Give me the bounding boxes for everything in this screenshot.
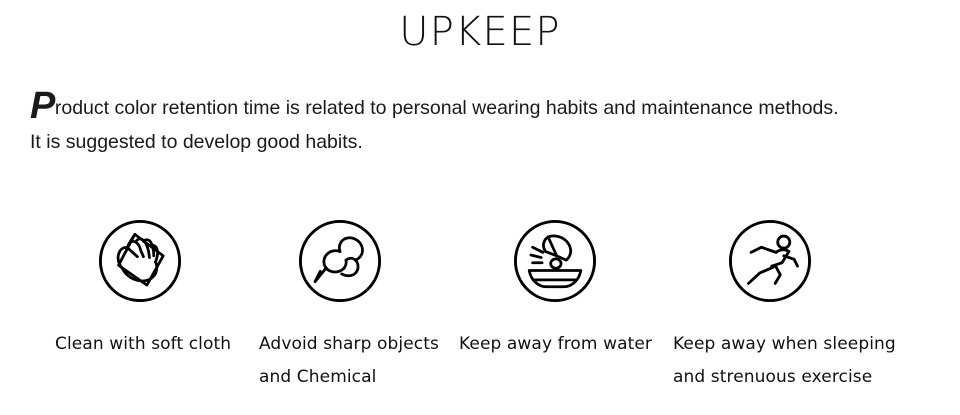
care-caption-2: Keep away from water xyxy=(459,328,652,361)
care-icon-3 xyxy=(727,218,813,304)
faucet-water-basin-icon xyxy=(512,218,598,304)
care-caption-3: Keep away when sleeping and strenuous ex… xyxy=(673,328,896,394)
care-caption-0: Clean with soft cloth xyxy=(55,328,231,361)
upkeep-infographic: UPKEEP Product color retention time is r… xyxy=(0,0,960,415)
hand-wiping-cloth-icon xyxy=(97,218,183,304)
care-caption-1-line1: Advoid sharp objects xyxy=(259,328,439,361)
care-icon-row xyxy=(0,218,960,308)
care-icon-2 xyxy=(512,218,598,304)
care-icon-1 xyxy=(297,218,383,304)
care-caption-2-line1: Keep away from water xyxy=(459,328,652,361)
intro-paragraph: Product color retention time is related … xyxy=(30,92,930,156)
intro-line-1-text: roduct color retention time is related t… xyxy=(55,97,839,119)
care-caption-3-line2: and strenuous exercise xyxy=(673,361,896,394)
care-caption-1: Advoid sharp objects and Chemical xyxy=(259,328,439,394)
care-icon-0 xyxy=(97,218,183,304)
intro-line-2: It is suggested to develop good habits. xyxy=(30,128,930,156)
care-caption-1-line2: and Chemical xyxy=(259,361,439,394)
care-caption-3-line1: Keep away when sleeping xyxy=(673,328,896,361)
drop-cap-letter: P xyxy=(30,85,55,127)
care-caption-0-line1: Clean with soft cloth xyxy=(55,328,231,361)
running-person-icon xyxy=(727,218,813,304)
push-pin-icon xyxy=(297,218,383,304)
intro-line-1: Product color retention time is related … xyxy=(30,92,930,122)
page-title: UPKEEP xyxy=(0,10,960,54)
